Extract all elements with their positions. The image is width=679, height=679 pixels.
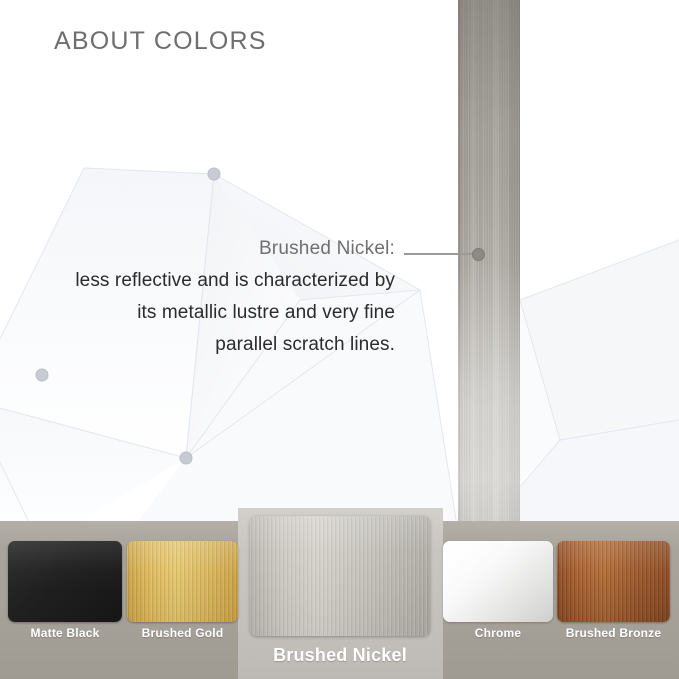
- swatch-gloss: [443, 541, 553, 622]
- brush-bar-shading: [458, 0, 520, 545]
- swatch-gloss: [250, 516, 430, 636]
- swatch-label-matte-black: Matte Black: [8, 626, 122, 640]
- about-colors-infographic: ABOUT COLORS Brushed Nickel: less reflec…: [0, 0, 679, 679]
- callout-line-1: less reflective and is characterized by: [0, 270, 404, 292]
- callout-text-block: Brushed Nickel: less reflective and is c…: [0, 238, 404, 356]
- swatch-chrome[interactable]: [443, 541, 553, 622]
- brushed-nickel-sample-bar: [458, 0, 520, 545]
- callout-line-2: its metallic lustre and very fine: [0, 302, 404, 324]
- page-title: ABOUT COLORS: [54, 27, 267, 56]
- callout-leader-dot: [472, 248, 485, 261]
- swatch-gloss: [127, 541, 238, 622]
- callout-lead-label: Brushed Nickel:: [0, 238, 404, 260]
- swatch-label-brushed-bronze: Brushed Bronze: [557, 626, 670, 640]
- swatch-brushed-bronze[interactable]: [557, 541, 670, 622]
- swatch-label-brushed-gold: Brushed Gold: [127, 626, 238, 640]
- callout-leader-line: [404, 253, 474, 255]
- swatch-matte-black[interactable]: [8, 541, 122, 622]
- callout-line-3: parallel scratch lines.: [0, 334, 404, 356]
- swatch-label-chrome: Chrome: [443, 626, 553, 640]
- swatch-brushed-gold[interactable]: [127, 541, 238, 622]
- swatch-gloss: [8, 541, 122, 622]
- swatch-label-brushed-nickel: Brushed Nickel: [240, 645, 440, 666]
- swatch-brushed-nickel[interactable]: [250, 516, 430, 636]
- swatch-gloss: [557, 541, 670, 622]
